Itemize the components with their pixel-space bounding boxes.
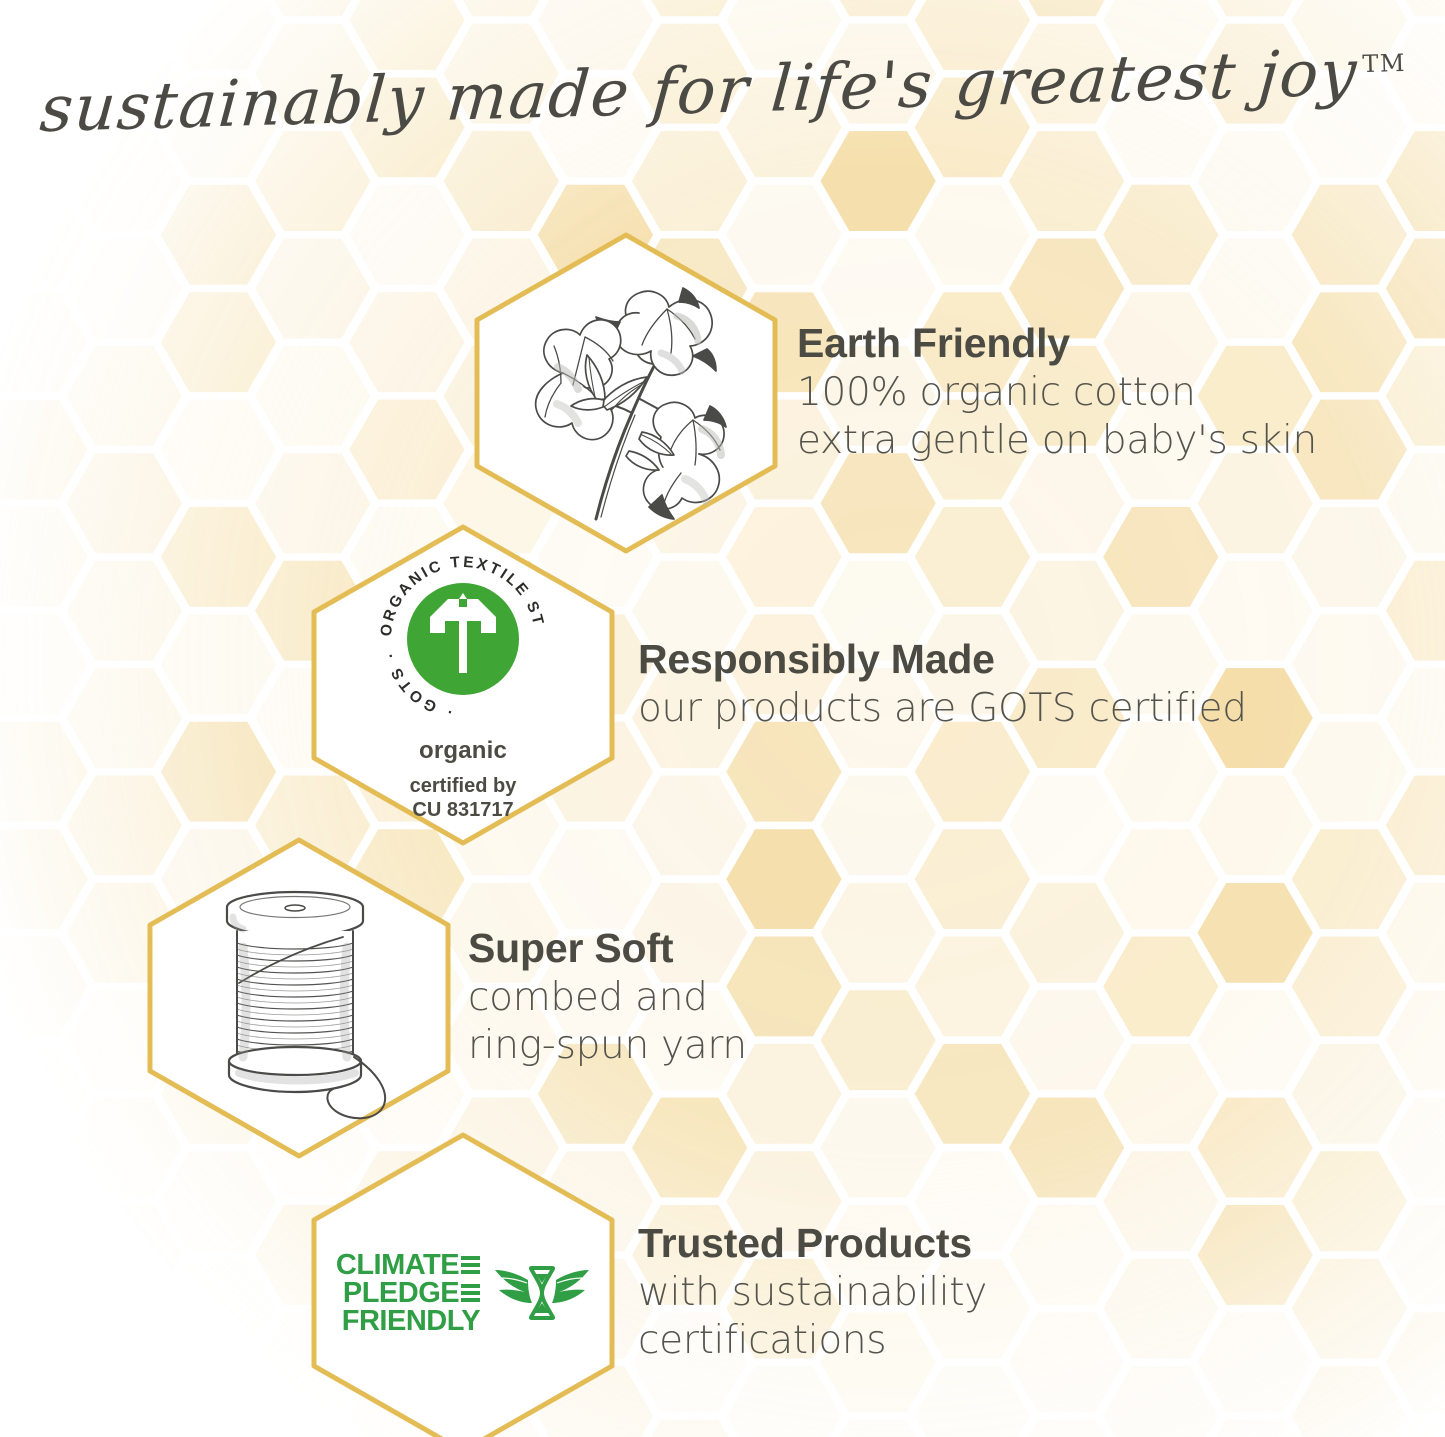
honeycomb-cell xyxy=(632,0,747,16)
honeycomb-cell xyxy=(0,1366,88,1437)
honeycomb-cell xyxy=(0,1259,88,1359)
honeycomb-cell xyxy=(67,668,182,768)
feature-row-super-soft: Super Soft combed and ring-spun yarn xyxy=(136,833,747,1163)
cpf-word-pledge: PLEDGE xyxy=(343,1279,459,1307)
feature-line: extra gentle on baby's skin xyxy=(797,417,1317,465)
honeycomb-cell xyxy=(1386,131,1445,231)
gots-certified-by: certified by xyxy=(410,774,517,798)
honeycomb-cell xyxy=(1386,668,1445,768)
honeycomb-cell xyxy=(255,239,370,339)
honeycomb-cell xyxy=(1009,131,1124,231)
honeycomb-cell xyxy=(1386,1205,1445,1305)
hex-card-earth-friendly xyxy=(463,228,789,558)
honeycomb-cell xyxy=(1009,1420,1124,1437)
cotton-branch-illustration xyxy=(501,261,751,526)
honeycomb-cell xyxy=(1386,1312,1445,1412)
feature-heading: Earth Friendly xyxy=(797,321,1317,367)
feature-row-responsibly-made: GLOBAL ORGANIC TEXTILE STANDARD · GOTS ·… xyxy=(300,520,1247,850)
tagline-container: sustainably made for life's greatest joy… xyxy=(0,36,1445,146)
cpf-bars-icon xyxy=(461,1284,480,1302)
honeycomb-cell xyxy=(0,185,88,285)
honeycomb-cell xyxy=(0,614,88,714)
thread-spool-illustration xyxy=(179,875,419,1125)
honeycomb-cell xyxy=(1103,1044,1218,1144)
honeycomb-cell xyxy=(161,722,276,822)
winged-hourglass-icon xyxy=(494,1258,590,1328)
honeycomb-cell xyxy=(1198,1205,1313,1305)
feature-line: combed and xyxy=(468,974,747,1022)
feature-description: our products are GOTS certified xyxy=(638,685,1247,733)
honeycomb-cell xyxy=(1386,346,1445,446)
honeycomb-cell xyxy=(821,883,936,983)
honeycomb-cell xyxy=(67,1205,182,1305)
honeycomb-cell xyxy=(0,292,88,392)
feature-line: ring-spun yarn xyxy=(468,1022,747,1070)
feature-row-trusted-products: CLIMATE PLEDGE FRIENDLY xyxy=(300,1128,987,1437)
honeycomb-cell xyxy=(0,400,88,500)
honeycomb-cell xyxy=(67,131,182,231)
honeycomb-cell xyxy=(1009,990,1124,1090)
honeycomb-cell xyxy=(1198,883,1313,983)
feature-text-trusted-products: Trusted Products with sustainability cer… xyxy=(638,1221,987,1365)
honeycomb-cell xyxy=(1386,883,1445,983)
honeycomb-cell xyxy=(161,1151,276,1251)
honeycomb-cell xyxy=(67,1420,182,1437)
honeycomb-cell xyxy=(1009,0,1124,16)
infographic-canvas: sustainably made for life's greatest joy… xyxy=(0,0,1445,1437)
honeycomb-cell xyxy=(1292,1259,1407,1359)
honeycomb-cell xyxy=(821,131,936,231)
honeycomb-cell xyxy=(67,239,182,339)
honeycomb-cell xyxy=(67,453,182,553)
feature-text-earth-friendly: Earth Friendly 100% organic cotton extra… xyxy=(797,321,1317,465)
honeycomb-cell xyxy=(161,1366,276,1437)
gots-certifier: certified by CU 831717 xyxy=(410,774,517,822)
cpf-word-friendly: FRIENDLY xyxy=(342,1307,480,1335)
honeycomb-cell xyxy=(67,1312,182,1412)
honeycomb-cell xyxy=(1198,1420,1313,1437)
feature-heading: Trusted Products xyxy=(638,1221,987,1267)
honeycomb-cell xyxy=(67,561,182,661)
honeycomb-cell xyxy=(1198,1098,1313,1198)
honeycomb-cell xyxy=(1386,1098,1445,1198)
honeycomb-cell xyxy=(1386,0,1445,16)
tagline-text: sustainably made for life's greatest joy xyxy=(37,36,1360,147)
feature-line: certifications xyxy=(638,1317,987,1365)
honeycomb-cell xyxy=(821,990,936,1090)
feature-line: our products are GOTS certified xyxy=(638,685,1247,733)
honeycomb-cell xyxy=(0,1151,88,1251)
honeycomb-cell xyxy=(1198,0,1313,16)
honeycomb-cell xyxy=(1386,1420,1445,1437)
hex-card-trusted-products: CLIMATE PLEDGE FRIENDLY xyxy=(300,1128,626,1437)
gots-organic-label: organic xyxy=(419,737,507,765)
feature-heading: Responsibly Made xyxy=(638,637,1247,683)
climate-pledge-friendly-logo: CLIMATE PLEDGE FRIENDLY xyxy=(336,1251,590,1335)
honeycomb-cell xyxy=(915,937,1030,1037)
honeycomb-cell xyxy=(1292,937,1407,1037)
gots-certification-logo: GLOBAL ORGANIC TEXTILE STANDARD · GOTS ·… xyxy=(373,549,553,822)
honeycomb-cell xyxy=(1292,722,1407,822)
honeycomb-cell xyxy=(1292,1366,1407,1437)
honeycomb-cell xyxy=(0,507,88,607)
honeycomb-cell xyxy=(1386,776,1445,876)
honeycomb-cell xyxy=(255,346,370,446)
honeycomb-cell xyxy=(1009,1312,1124,1412)
honeycomb-cell xyxy=(161,400,276,500)
honeycomb-cell xyxy=(1292,614,1407,714)
tagline: sustainably made for life's greatest joy… xyxy=(37,35,1407,147)
honeycomb-cell xyxy=(1292,829,1407,929)
gots-seal: GLOBAL ORGANIC TEXTILE STANDARD · GOTS · xyxy=(373,549,553,729)
feature-description: combed and ring-spun yarn xyxy=(468,974,747,1070)
honeycomb-cell xyxy=(1386,453,1445,553)
feature-line: with sustainability xyxy=(638,1269,987,1317)
honeycomb-cell xyxy=(1386,561,1445,661)
honeycomb-cell xyxy=(255,0,370,16)
honeycomb-cell xyxy=(67,346,182,446)
feature-description: with sustainability certifications xyxy=(638,1269,987,1365)
gots-certificate-number: CU 831717 xyxy=(410,798,517,822)
feature-text-super-soft: Super Soft combed and ring-spun yarn xyxy=(468,926,747,1070)
honeycomb-cell xyxy=(0,1044,88,1144)
honeycomb-cell xyxy=(0,722,88,822)
honeycomb-cell xyxy=(1386,239,1445,339)
honeycomb-cell xyxy=(1103,1259,1218,1359)
honeycomb-cell xyxy=(349,185,464,285)
honeycomb-cell xyxy=(1386,990,1445,1090)
honeycomb-cell xyxy=(67,0,182,16)
honeycomb-cell xyxy=(1103,937,1218,1037)
hex-card-responsibly-made: GLOBAL ORGANIC TEXTILE STANDARD · GOTS ·… xyxy=(300,520,626,850)
honeycomb-cell xyxy=(1009,1098,1124,1198)
honeycomb-cell xyxy=(1009,883,1124,983)
honeycomb-cell xyxy=(1292,1044,1407,1144)
feature-line: 100% organic cotton xyxy=(797,369,1317,417)
feature-heading: Super Soft xyxy=(468,926,747,972)
honeycomb-cell xyxy=(161,507,276,607)
feature-description: 100% organic cotton extra gentle on baby… xyxy=(797,369,1317,465)
feature-text-responsibly-made: Responsibly Made our products are GOTS c… xyxy=(638,637,1247,733)
hex-card-super-soft xyxy=(136,833,462,1163)
feature-row-earth-friendly: Earth Friendly 100% organic cotton extra… xyxy=(463,228,1317,558)
honeycomb-cell xyxy=(444,0,559,16)
honeycomb-cell xyxy=(444,131,559,231)
cpf-bars-icon xyxy=(461,1256,480,1274)
honeycomb-cell xyxy=(0,937,88,1037)
honeycomb-cell xyxy=(161,1259,276,1359)
honeycomb-cell xyxy=(1103,1366,1218,1437)
honeycomb-cell xyxy=(161,185,276,285)
climate-pledge-wordmark: CLIMATE PLEDGE FRIENDLY xyxy=(336,1251,480,1335)
honeycomb-cell xyxy=(161,614,276,714)
honeycomb-cell xyxy=(0,829,88,929)
trademark-symbol: TM xyxy=(1362,49,1406,78)
honeycomb-cell xyxy=(632,131,747,231)
honeycomb-cell xyxy=(1292,1151,1407,1251)
honeycomb-cell xyxy=(1198,131,1313,231)
honeycomb-cell xyxy=(1103,1151,1218,1251)
honeycomb-cell xyxy=(821,0,936,16)
honeycomb-cell xyxy=(255,131,370,231)
honeycomb-cell xyxy=(349,400,464,500)
honeycomb-cell xyxy=(349,292,464,392)
honeycomb-cell xyxy=(1198,990,1313,1090)
honeycomb-cell xyxy=(1198,1312,1313,1412)
honeycomb-cell xyxy=(1009,1205,1124,1305)
cpf-word-climate: CLIMATE xyxy=(336,1251,459,1279)
honeycomb-cell xyxy=(161,292,276,392)
